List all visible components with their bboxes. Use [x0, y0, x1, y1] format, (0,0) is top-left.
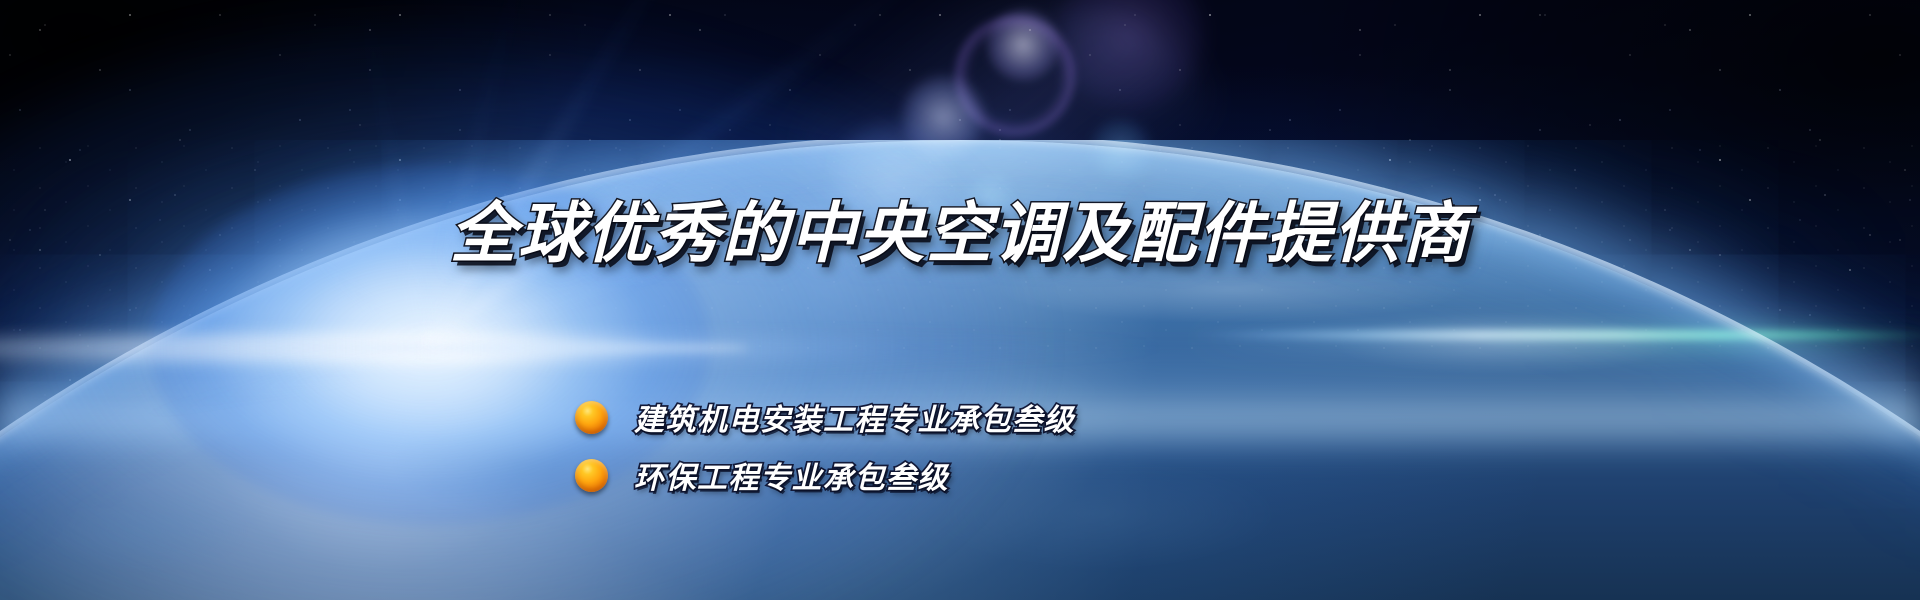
banner-headline-text: 全球优秀的中央空调及配件提供商: [450, 196, 1470, 270]
banner-content: 全球优秀的中央空调及配件提供商 建筑机电安装工程专业承包叁级 环保工程专业承包叁…: [0, 0, 1920, 600]
banner-headline: 全球优秀的中央空调及配件提供商: [0, 200, 1920, 266]
bullet-item: 建筑机电安装工程专业承包叁级: [575, 388, 1075, 446]
bullet-item-label: 建筑机电安装工程专业承包叁级: [634, 395, 1075, 439]
orange-sphere-bullet-icon: [575, 401, 608, 434]
banner-bullet-list: 建筑机电安装工程专业承包叁级 环保工程专业承包叁级: [575, 388, 1075, 504]
orange-sphere-bullet-icon: [575, 459, 608, 492]
hero-banner: 全球优秀的中央空调及配件提供商 建筑机电安装工程专业承包叁级 环保工程专业承包叁…: [0, 0, 1920, 600]
bullet-item-label: 环保工程专业承包叁级: [634, 453, 949, 497]
bullet-item: 环保工程专业承包叁级: [575, 446, 1075, 504]
